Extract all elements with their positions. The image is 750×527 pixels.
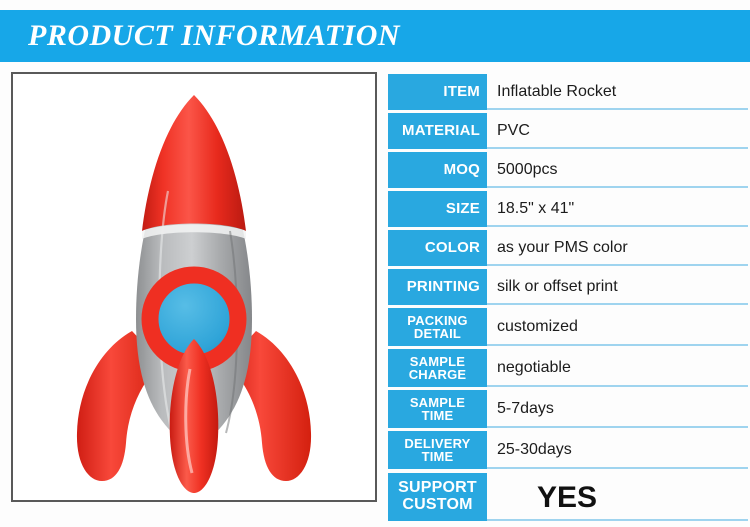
spec-value-sample-time: 5-7days [497, 400, 554, 418]
spec-value-moq: 5000pcs [497, 161, 558, 179]
spec-value-cell-support-custom: YES [487, 473, 742, 521]
row-underline [487, 225, 748, 227]
spec-value-printing: silk or offset print [497, 278, 618, 296]
row-underline [487, 426, 748, 428]
spec-value-item: Inflatable Rocket [497, 83, 616, 101]
row-underline [487, 264, 748, 266]
spec-value-cell-item: Inflatable Rocket [487, 74, 742, 110]
spec-value-color: as your PMS color [497, 239, 628, 257]
spec-value-material: PVC [497, 122, 530, 140]
spec-row-support-custom: SUPPORT CUSTOM YES [388, 473, 742, 521]
rocket-nose-cone [142, 95, 246, 231]
row-underline [487, 385, 748, 387]
spec-row-packing-detail: PACKING DETAIL customized [388, 308, 742, 346]
spec-row-delivery-time: DELIVERY TIME 25-30days [388, 431, 742, 469]
spec-row-sample-time: SAMPLE TIME 5-7days [388, 390, 742, 428]
product-photo-frame [11, 72, 377, 502]
row-underline [487, 344, 748, 346]
row-underline [487, 467, 748, 469]
row-underline [487, 303, 748, 305]
spec-value-sample-charge: negotiable [497, 359, 571, 377]
spec-label-moq: MOQ [388, 152, 487, 188]
product-information-page: PRODUCT INFORMATION [0, 0, 750, 527]
spec-label-size: SIZE [388, 191, 487, 227]
spec-label-color: COLOR [388, 230, 487, 266]
specification-table: ITEM Inflatable Rocket MATERIAL PVC MOQ … [388, 74, 742, 524]
row-underline [487, 108, 748, 110]
spec-label-sample-charge: SAMPLE CHARGE [388, 349, 487, 387]
spec-row-color: COLOR as your PMS color [388, 230, 742, 266]
spec-value-cell-color: as your PMS color [487, 230, 742, 266]
spec-row-sample-charge: SAMPLE CHARGE negotiable [388, 349, 742, 387]
spec-row-moq: MOQ 5000pcs [388, 152, 742, 188]
spec-label-packing-detail: PACKING DETAIL [388, 308, 487, 346]
spec-label-item: ITEM [388, 74, 487, 110]
spec-value-size: 18.5" x 41" [497, 200, 574, 218]
spec-value-cell-sample-time: 5-7days [487, 390, 742, 428]
spec-value-cell-packing-detail: customized [487, 308, 742, 346]
row-underline [487, 147, 748, 149]
spec-label-sample-time: SAMPLE TIME [388, 390, 487, 428]
page-header-banner: PRODUCT INFORMATION [0, 10, 750, 62]
spec-value-cell-moq: 5000pcs [487, 152, 742, 188]
row-underline [487, 519, 748, 521]
spec-value-cell-delivery-time: 25-30days [487, 431, 742, 469]
spec-value-packing-detail: customized [497, 318, 578, 336]
spec-label-support-custom: SUPPORT CUSTOM [388, 473, 487, 521]
spec-row-printing: PRINTING silk or offset print [388, 269, 742, 305]
spec-value-cell-sample-charge: negotiable [487, 349, 742, 387]
product-photo [13, 74, 375, 500]
spec-label-material: MATERIAL [388, 113, 487, 149]
spec-value-delivery-time: 25-30days [497, 441, 572, 459]
spec-row-size: SIZE 18.5" x 41" [388, 191, 742, 227]
page-title: PRODUCT INFORMATION [28, 19, 400, 53]
inflatable-rocket-illustration [44, 81, 344, 493]
row-underline [487, 186, 748, 188]
spec-row-material: MATERIAL PVC [388, 113, 742, 149]
spec-value-support-custom: YES [497, 481, 597, 514]
spec-value-cell-size: 18.5" x 41" [487, 191, 742, 227]
spec-value-cell-printing: silk or offset print [487, 269, 742, 305]
spec-value-cell-material: PVC [487, 113, 742, 149]
spec-row-item: ITEM Inflatable Rocket [388, 74, 742, 110]
spec-label-delivery-time: DELIVERY TIME [388, 431, 487, 469]
spec-label-printing: PRINTING [388, 269, 487, 305]
